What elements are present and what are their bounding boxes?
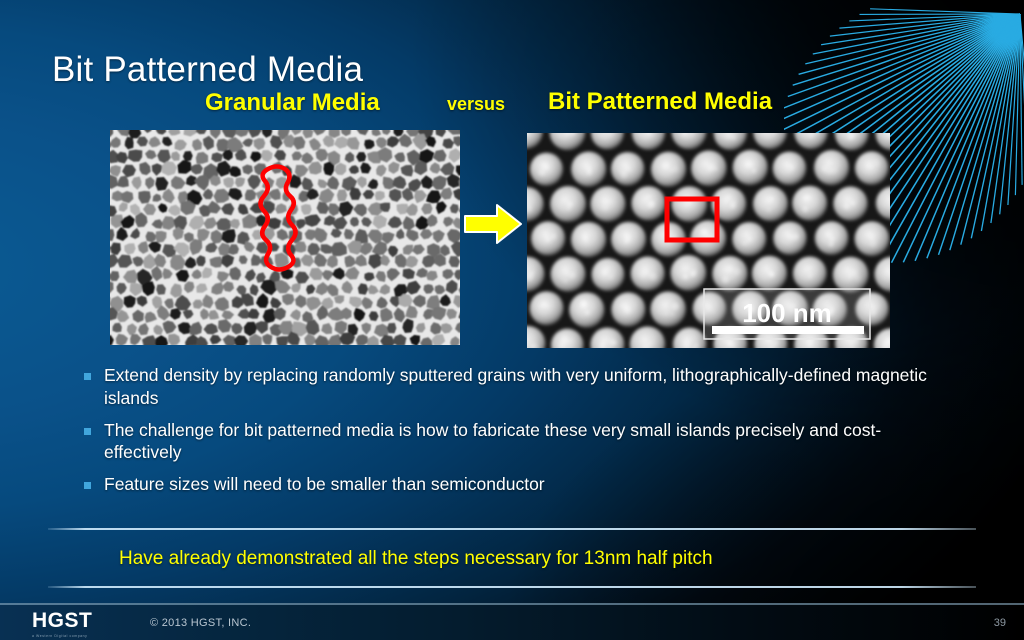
highlight-statement: Have already demonstrated all the steps …: [119, 548, 713, 570]
bit-patterned-media-micrograph: 100 nm: [527, 133, 890, 348]
granular-media-heading: Granular Media: [205, 89, 380, 117]
bullet-list: Extend density by replacing randomly spu…: [84, 364, 944, 505]
svg-text:100 nm: 100 nm: [742, 298, 832, 328]
bit-patterned-media-heading: Bit Patterned Media: [548, 88, 772, 116]
versus-label: versus: [447, 94, 505, 115]
granular-media-micrograph: [110, 130, 460, 345]
bullet-marker-icon: [84, 428, 91, 435]
logo-wordmark: HGST: [32, 610, 128, 631]
logo-tagline: a Western Digital company: [32, 634, 128, 638]
bullet-marker-icon: [84, 373, 91, 380]
page-number: 39: [994, 617, 1006, 629]
page-title: Bit Patterned Media: [52, 50, 363, 90]
slide-canvas: Bit Patterned Media Granular Media versu…: [0, 0, 1024, 640]
list-item: Feature sizes will need to be smaller th…: [84, 473, 944, 496]
bullet-marker-icon: [84, 482, 91, 489]
scale-bar: 100 nm: [704, 289, 870, 339]
bullet-text: Extend density by replacing randomly spu…: [104, 364, 944, 410]
slide-footer: HGST a Western Digital company © 2013 HG…: [0, 603, 1024, 640]
right-arrow-icon: [461, 199, 525, 249]
bullet-text: Feature sizes will need to be smaller th…: [104, 473, 545, 496]
copyright-text: © 2013 HGST, INC.: [150, 617, 251, 629]
bullet-text: The challenge for bit patterned media is…: [104, 419, 944, 465]
hgst-logo: HGST a Western Digital company: [32, 610, 128, 638]
divider-line-bottom: [48, 586, 976, 588]
divider-line-top: [48, 528, 976, 530]
list-item: The challenge for bit patterned media is…: [84, 419, 944, 465]
list-item: Extend density by replacing randomly spu…: [84, 364, 944, 410]
